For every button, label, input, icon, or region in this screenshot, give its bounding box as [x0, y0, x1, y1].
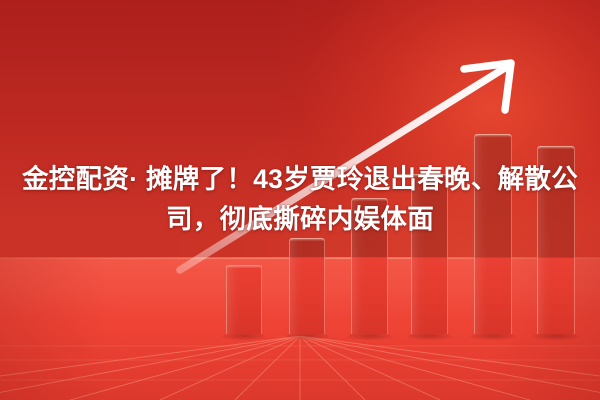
floor-plane: [0, 258, 600, 400]
banner-image: 金控配资· 摊牌了！43岁贾玲退出春晚、解散公司，彻底撕碎内娱体面: [0, 0, 600, 400]
